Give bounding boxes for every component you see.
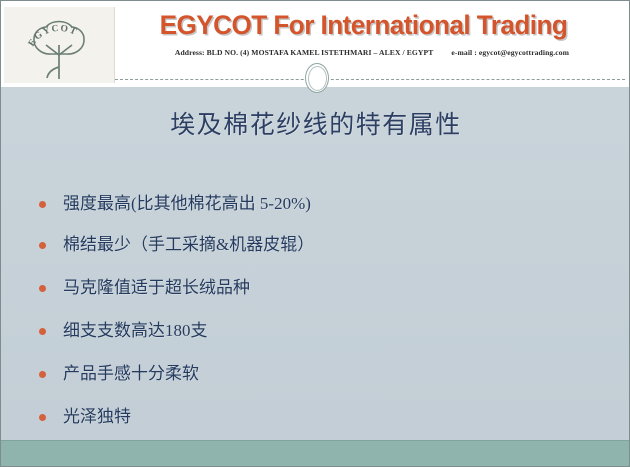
list-item: 产品手感十分柔软 — [1, 359, 561, 402]
list-item: 强度最高(比其他棉花高出 5-20%) — [1, 189, 561, 230]
list-item-label: 光泽独特 — [63, 407, 131, 426]
list-item: 马克隆值适于超长绒品种 — [1, 273, 561, 316]
presentation-slide: EGYCOT EGYCOT For International Trading … — [0, 0, 630, 467]
bullet-dot-icon — [39, 201, 46, 208]
list-item-label: 细支支数高达180支 — [63, 321, 208, 340]
company-email-label: e-mail : — [451, 48, 476, 57]
list-item-label: 棉结最少（手工采摘&机器皮辊） — [63, 235, 314, 254]
header-divider — [115, 79, 625, 80]
list-item: 光泽独特 — [1, 402, 561, 445]
company-email[interactable]: egycot@egycottrading.com — [479, 48, 569, 57]
company-address-line: Address: BLD NO. (4) MOSTAFA KAMEL ISTET… — [119, 48, 625, 57]
bullet-dot-icon — [39, 328, 46, 335]
list-item: 棉结最少（手工采摘&机器皮辊） — [1, 230, 561, 273]
list-item-label: 产品手感十分柔软 — [63, 364, 199, 383]
bullet-dot-icon — [39, 285, 46, 292]
list-item-label: 马克隆值适于超长绒品种 — [63, 278, 250, 297]
list-item-label: 强度最高(比其他棉花高出 5-20%) — [63, 194, 311, 213]
slide-header: EGYCOT EGYCOT For International Trading … — [1, 1, 629, 87]
list-item: 细支支数高达180支 — [1, 316, 561, 359]
bullet-dot-icon — [39, 414, 46, 421]
bullet-dot-icon — [39, 371, 46, 378]
company-title: EGYCOT For International Trading — [119, 10, 608, 41]
company-address-text: Address: BLD NO. (4) MOSTAFA KAMEL ISTET… — [175, 48, 434, 57]
bullet-dot-icon — [39, 242, 46, 249]
feature-bullet-list: 强度最高(比其他棉花高出 5-20%) 棉结最少（手工采摘&机器皮辊） 马克隆值… — [1, 189, 561, 445]
page-title: 埃及棉花纱线的特有属性 — [1, 105, 630, 141]
company-logo: EGYCOT — [4, 7, 115, 83]
ellipse-ornament-icon — [305, 63, 329, 93]
egycot-cotton-boll-logo-icon: EGYCOT — [4, 7, 114, 83]
